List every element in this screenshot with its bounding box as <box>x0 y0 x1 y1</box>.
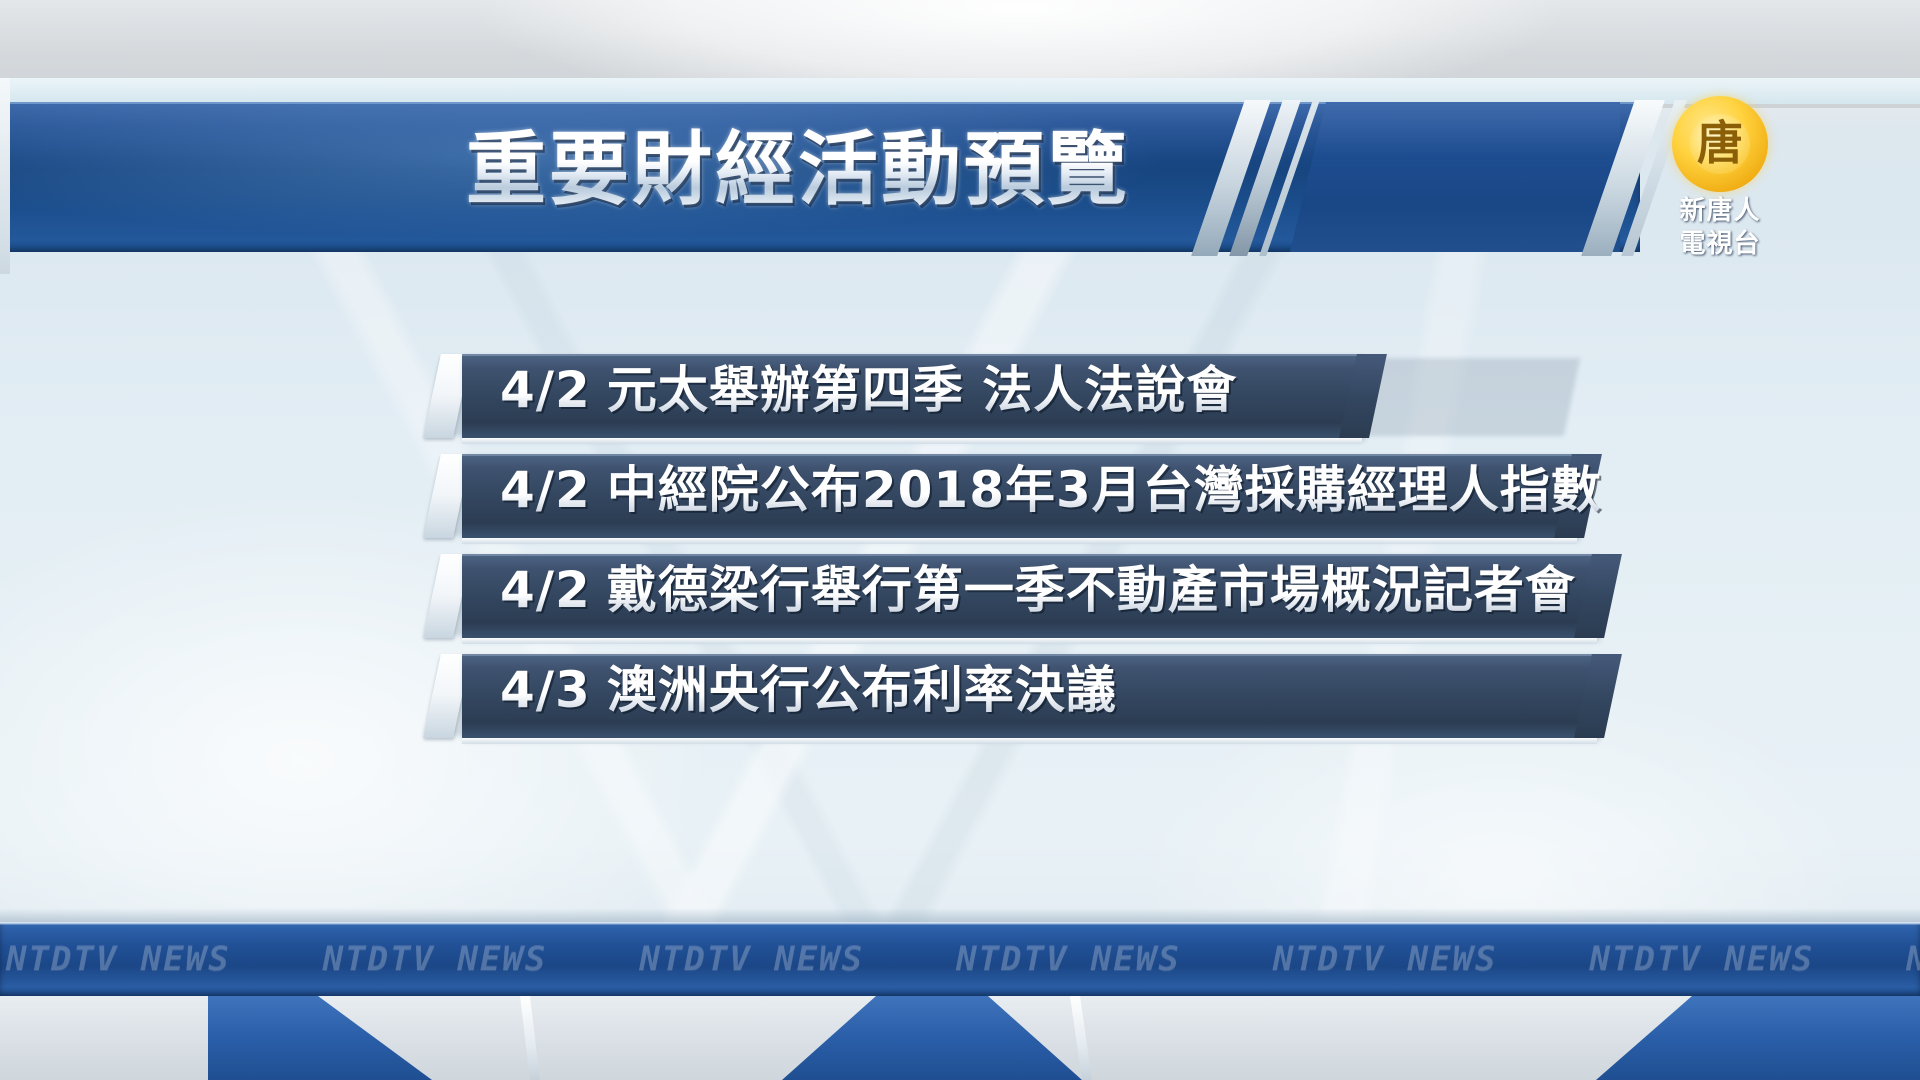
list-item: 4/3澳洲央行公布利率決議 <box>0 648 1920 748</box>
list-item: 4/2中經院公布2018年3月台灣採購經理人指數 <box>0 448 1920 548</box>
ticker-watermark-word: NTDTV NEWS <box>1273 939 1498 979</box>
ticker-watermark-word: NTDTV NEWS <box>6 939 231 979</box>
header-left-edge <box>0 78 10 274</box>
header-cap-highlight <box>0 78 1920 104</box>
ticker-watermark-word: NTDTV NEWS <box>1906 939 1920 979</box>
broadcast-screen: 重要財經活動預覽 唐 新唐人 電視台 4/2元太舉辦第四季 法人法說會 <box>0 0 1920 1080</box>
ticker-top-line <box>0 922 1920 925</box>
ntdtv-emblem-icon: 唐 <box>1672 96 1768 192</box>
row-text: 4/2元太舉辦第四季 法人法說會 <box>500 348 1237 432</box>
row-label: 澳洲央行公布利率決議 <box>607 661 1117 719</box>
ticker-shadow-band <box>0 908 1920 922</box>
row-date: 4/2 <box>500 361 591 419</box>
ticker-watermark-word: NTDTV NEWS <box>639 939 864 979</box>
row-bar-cap <box>1574 654 1622 738</box>
row-text: 4/2中經院公布2018年3月台灣採購經理人指數 <box>500 448 1602 532</box>
row-date: 4/3 <box>500 661 591 719</box>
ticker-watermark-track: NTDTV NEWSNTDTV NEWSNTDTV NEWSNTDTV NEWS… <box>0 922 1920 996</box>
logo-line-1: 新唐人 <box>1645 198 1795 225</box>
logo-line-2: 電視台 <box>1645 231 1795 258</box>
row-text: 4/2戴德梁行舉行第一季不動產市場概況記者會 <box>500 548 1576 632</box>
ticker-watermark-word: NTDTV NEWS <box>1590 939 1815 979</box>
row-date: 4/2 <box>500 461 591 519</box>
event-list: 4/2元太舉辦第四季 法人法說會 4/2中經院公布2018年3月台灣採購經理人指… <box>0 348 1920 748</box>
ntdtv-logo: 唐 新唐人 電視台 <box>1645 96 1795 256</box>
page-title: 重要財經活動預覽 <box>0 114 1220 226</box>
row-date: 4/2 <box>500 561 591 619</box>
list-item: 4/2戴德梁行舉行第一季不動產市場概況記者會 <box>0 548 1920 648</box>
row-text: 4/3澳洲央行公布利率決議 <box>500 648 1117 732</box>
row-label: 中經院公布2018年3月台灣採購經理人指數 <box>607 461 1602 519</box>
ticker-bar: NTDTV NEWSNTDTV NEWSNTDTV NEWSNTDTV NEWS… <box>0 922 1920 996</box>
ticker-watermark-word: NTDTV NEWS <box>323 939 548 979</box>
row-label: 戴德梁行舉行第一季不動產市場概況記者會 <box>607 561 1576 619</box>
logo-glyph: 唐 <box>1672 120 1768 166</box>
header-banner: 重要財經活動預覽 <box>0 78 1920 274</box>
list-item: 4/2元太舉辦第四季 法人法說會 <box>0 348 1920 448</box>
row-label: 元太舉辦第四季 法人法說會 <box>607 361 1237 419</box>
row-bar-cap <box>1574 554 1622 638</box>
ticker-watermark-word: NTDTV NEWS <box>956 939 1181 979</box>
